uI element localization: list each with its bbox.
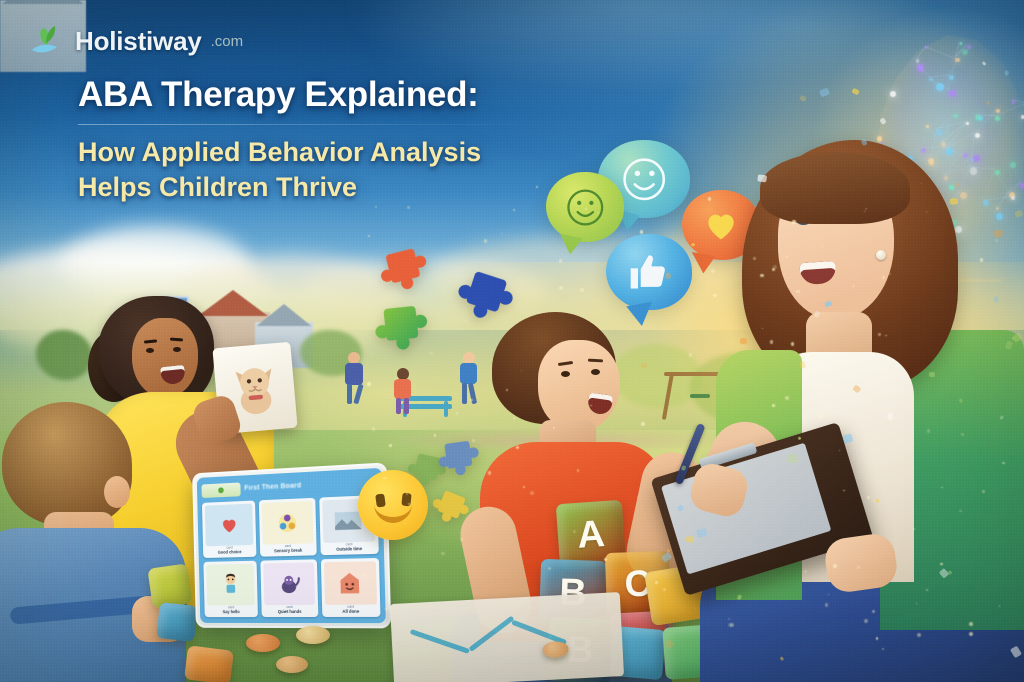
sparkle [980,258,984,262]
sparkle [785,396,789,400]
sparkle [1002,462,1004,464]
sparkle [470,399,472,401]
confetti [686,536,695,544]
pec-card-caption: All done [325,608,378,614]
sparkle [383,477,386,480]
happy-face-icon [324,561,377,604]
earring [876,250,886,260]
pec-card[interactable]: cardSensory break [259,498,316,557]
sparkle [728,623,732,627]
sparkle [876,451,878,453]
sparkle [796,290,799,293]
neural-node [954,114,958,118]
sparkle [961,433,964,436]
puzzle-piece-green-icon [369,299,439,369]
neural-node [890,91,895,96]
sparkle [640,230,643,233]
hero-banner: First Then Board cardGood choicecardSens… [0,0,1024,682]
sparkle [368,235,370,237]
sparkle [917,633,921,637]
neural-node [967,45,970,48]
sparkle [969,622,973,626]
pec-card[interactable]: cardQuiet hands [261,559,318,617]
activity-worksheet [390,592,624,682]
sparkle [513,417,516,420]
pec-card-caption: Say hello [207,609,255,614]
wooden-block [156,602,198,642]
board-title: First Then Board [244,478,377,492]
confetti [758,174,768,182]
sparkle [864,619,868,623]
background-child [392,368,414,414]
background-child [458,352,480,404]
sparkle [708,197,711,200]
tree [36,330,92,380]
pec-card-caption: Quiet hands [265,609,315,614]
sparkle [927,429,930,432]
confetti [993,296,999,303]
wooden-block [184,645,234,682]
confetti [994,229,1003,237]
child-left-ear [104,476,130,508]
animal-toy-icon [264,562,315,604]
sparkle [441,552,444,555]
confetti [799,361,805,368]
heart-icon [205,504,254,547]
pec-card-caption: Good choice [206,549,254,555]
token-coin [246,634,280,652]
sparkle [882,648,884,650]
sparkle [460,538,463,541]
sparkle [488,471,491,474]
token-coin [296,626,330,644]
logo-tld: .com [211,33,244,50]
sparkle [408,503,410,505]
confetti [929,371,936,377]
sparkle [772,404,775,407]
subtitle-line-2: Helps Children Thrive [78,170,598,205]
confetti [690,242,695,246]
sparkle [363,574,365,576]
neural-node [962,49,968,55]
confetti [950,198,958,205]
sparkle [559,259,562,262]
pec-card-grid[interactable]: cardGood choicecardSensory breakcardOuts… [202,495,381,617]
sparkle [867,496,870,499]
sparkle [385,608,388,611]
sparkle [456,412,459,415]
sparkle [548,567,551,570]
pec-card[interactable]: cardAll done [321,558,381,617]
sparkle [516,446,519,449]
sparkle [577,469,579,471]
sparkle [753,257,756,260]
sparkle [573,530,576,533]
sparkle [786,256,788,258]
background-child [342,352,366,404]
sparkle [513,209,515,211]
sparkle [853,285,855,287]
spinner-toy-icon [262,501,313,545]
sparkle [711,269,715,273]
neural-node [1011,196,1015,200]
sparkle [876,637,878,639]
sparkle [812,355,813,356]
sparkle [878,333,880,335]
sparkle [773,265,777,269]
neural-node [1020,183,1024,188]
pec-card-caption: Sensory break [263,547,313,554]
pec-card[interactable]: cardSay hello [203,561,258,617]
wooden-block [147,563,192,608]
sparkle [791,342,795,346]
therapist-right-hair-front [760,152,910,224]
smiley-face-token-icon [358,470,428,540]
subtitle-line-1: How Applied Behavior Analysis [78,135,598,170]
neural-node [960,192,967,199]
sparkle [819,414,823,418]
sparkle [959,510,962,513]
sparkle [407,206,409,208]
sparkle [389,444,392,447]
sparkle [367,382,371,386]
sparkle [395,377,398,380]
sparkle [559,286,563,290]
logo-wordmark: Holistiway [75,26,202,57]
sparkle [553,427,555,429]
heart-icon [700,206,742,244]
pec-card[interactable]: cardGood choice [202,500,257,558]
token-coin [276,656,308,673]
thumbs-up-icon [627,250,671,294]
leaf-wave-icon [30,24,66,58]
sparkle [833,564,837,568]
confetti [787,454,798,463]
page-title: ABA Therapy Explained: [78,76,598,114]
sparkle [792,220,795,223]
confetti [665,272,671,279]
puzzle-piece-blue-small-icon [433,435,489,491]
child-waving-icon [206,564,255,606]
board-chip [201,482,240,498]
sparkle [405,522,406,523]
sparkle [926,589,927,590]
sparkle [641,422,645,426]
neural-node [996,213,1003,220]
sparkle [770,340,773,343]
title-divider [78,124,538,125]
title-block: ABA Therapy Explained: How Applied Behav… [78,76,598,205]
sparkle [940,563,942,565]
therapist-left-face [132,318,198,398]
sparkle [549,636,550,637]
pec-card-caption: Outside time [323,545,375,552]
site-logo[interactable]: Holistiway .com [30,24,243,58]
sparkle [995,239,998,242]
speech-bubble-thumbsup-blue [606,234,692,310]
